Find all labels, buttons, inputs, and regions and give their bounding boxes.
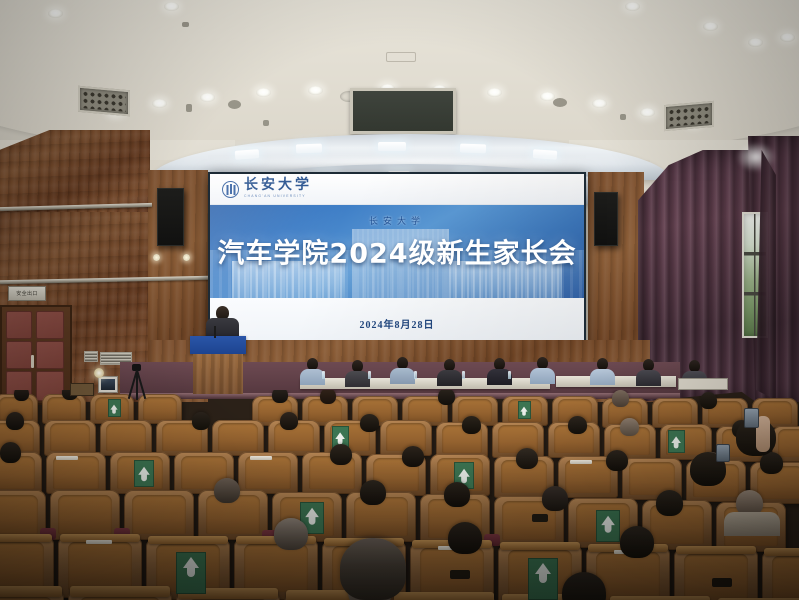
seat-evacuation-arrow-sticker (108, 399, 121, 417)
up-arrow-icon (140, 466, 149, 480)
audience-head (462, 416, 481, 434)
slide-title: 汽车学院2024级新生家长会 (210, 231, 584, 270)
wall-air-vent-left-2 (84, 351, 98, 362)
ceiling-downlight (703, 22, 718, 31)
water-bottle (322, 371, 325, 379)
seat[interactable] (762, 550, 799, 600)
audience-head (6, 412, 24, 430)
ceiling-downlight (592, 99, 607, 108)
control-desk-box (70, 383, 94, 396)
audience-head (192, 412, 210, 430)
ceiling-downlight (640, 108, 655, 117)
audience-head (360, 480, 386, 505)
seat-number-plate (532, 514, 548, 522)
audience-head (360, 414, 379, 432)
seat[interactable] (124, 490, 194, 540)
podium-body (193, 354, 243, 394)
ceiling-sensor (620, 114, 626, 120)
seat-evacuation-arrow-sticker (596, 510, 620, 542)
seat-evacuation-arrow-sticker (668, 430, 685, 453)
ceiling-speaker (228, 100, 241, 109)
seat-number-tag (86, 540, 112, 544)
audience-head (402, 446, 424, 467)
ceiling-downlight (200, 93, 215, 102)
up-arrow-icon (337, 432, 343, 442)
up-arrow-icon (602, 516, 615, 536)
audience-head (516, 448, 538, 469)
audience-head (444, 482, 470, 507)
stage-panelist-torso (590, 369, 615, 385)
ceiling-downlight (748, 38, 763, 47)
university-name-english: CHANG'AN UNIVERSITY (244, 195, 312, 198)
seat[interactable] (50, 490, 120, 540)
seat-top-rail (0, 534, 52, 542)
podium-top-surface (190, 336, 246, 354)
seat-evacuation-arrow-sticker (176, 552, 206, 594)
up-arrow-icon (523, 407, 527, 413)
water-bottle (368, 371, 371, 379)
ceiling-downlight (256, 88, 271, 97)
audience-head (214, 478, 240, 503)
foreground-audience-head (340, 538, 406, 600)
university-emblem-icon (222, 181, 239, 198)
seat-evacuation-arrow-sticker (528, 558, 558, 600)
up-arrow-icon (460, 468, 469, 482)
wall-speaker-right (594, 192, 618, 246)
audience-head (700, 392, 717, 409)
stage-strip-light (378, 142, 406, 151)
safety-exit-sign: 安全出口 (8, 286, 46, 301)
ceiling-downlight (625, 2, 640, 11)
up-arrow-icon (113, 405, 117, 411)
ceiling-projector-mount (386, 52, 416, 62)
seat-top-rail (764, 548, 799, 556)
audience-head (272, 390, 288, 403)
seat[interactable] (674, 548, 758, 600)
audience-head (448, 522, 482, 554)
stage-strip-light (296, 144, 322, 154)
audience-head (330, 444, 352, 465)
up-arrow-icon (306, 508, 319, 528)
seat-row-label (570, 460, 592, 464)
audience-head (612, 390, 629, 407)
seat-evacuation-arrow-sticker (134, 460, 154, 487)
seat-top-rail (70, 586, 170, 597)
ceiling-downlight (164, 2, 179, 11)
seat-number-plate (712, 578, 732, 587)
ceiling-air-grille (78, 86, 130, 117)
smartphone-icon (716, 444, 730, 462)
stage-panelist-torso (437, 370, 462, 386)
door-panel (36, 311, 64, 339)
stage-panelist-torso (345, 371, 370, 387)
door-panel (6, 311, 32, 339)
seat-evacuation-arrow-sticker (518, 401, 531, 419)
seat-top-rail (610, 596, 710, 600)
campus-building-sign: 长安大学 (369, 214, 425, 227)
camera-tripod (124, 364, 148, 398)
up-arrow-icon (534, 563, 553, 594)
audience-head (568, 416, 587, 434)
stage-panelist-torso (636, 370, 661, 386)
stage-panelist-torso (530, 368, 555, 384)
auditorium-photo: 安全出口 长安大学 CHANG'AN UNIVERSITY (0, 0, 799, 600)
presentation-slide: 长安大学 CHANG'AN UNIVERSITY 长安大学 汽车学院2024级新… (210, 174, 584, 348)
audience-head (438, 390, 455, 405)
ceiling-downlight (152, 99, 167, 108)
seat-row-label (250, 456, 272, 460)
door-panel (6, 341, 32, 369)
seat-top-rail (394, 592, 494, 600)
audience-head (542, 486, 568, 511)
microphone-stand (214, 326, 216, 338)
water-bottle (414, 371, 417, 379)
seat[interactable] (212, 420, 264, 456)
up-arrow-icon (673, 436, 679, 446)
wall-spotlight (153, 254, 160, 261)
audience-head (0, 442, 21, 463)
audience-shoulders (724, 512, 780, 536)
door-panel (36, 341, 64, 369)
stage-strip-light (460, 144, 486, 154)
seat[interactable] (100, 420, 152, 456)
stage-panel-table (300, 378, 550, 389)
wall-speaker-left (157, 188, 184, 246)
podium (190, 336, 246, 394)
ceiling-speaker (553, 98, 567, 107)
ceiling-downlight (780, 33, 795, 42)
seat-top-rail (500, 542, 580, 550)
audience-head (14, 390, 29, 401)
university-name: 长安大学 (244, 179, 312, 193)
projection-screen: 长安大学 CHANG'AN UNIVERSITY 长安大学 汽车学院2024级新… (208, 172, 586, 350)
camera-light (94, 368, 104, 378)
slide-header: 长安大学 CHANG'AN UNIVERSITY (210, 174, 584, 205)
ceiling-downlight (308, 86, 323, 95)
slide-hero-band: 长安大学 汽车学院2024级新生家长会 (210, 205, 584, 298)
safety-exit-sign-label: 安全出口 (16, 290, 38, 297)
audience-head (620, 526, 654, 558)
field-monitor (98, 376, 118, 393)
audience-head (620, 418, 639, 436)
ceiling-air-grille (664, 101, 714, 131)
seat-row-label (56, 456, 78, 460)
field-monitor-screen (101, 379, 115, 390)
stage-panelist-torso (390, 368, 415, 384)
seat-top-rail (676, 546, 756, 554)
ceiling-downlight (48, 9, 63, 18)
ceiling-sensor (182, 22, 189, 27)
door-handle[interactable] (31, 355, 34, 368)
wall-spotlight (183, 254, 190, 261)
ceiling-sensor (263, 120, 269, 126)
audience-head (656, 490, 683, 516)
slide-date: 2024年8月28日 (360, 316, 435, 331)
seat-top-rail (0, 586, 62, 597)
seat-top-rail (148, 536, 228, 544)
seat[interactable] (44, 420, 96, 456)
water-bottle (508, 371, 511, 379)
seat-number-plate (450, 570, 470, 579)
up-arrow-icon (182, 557, 201, 588)
water-bottle (462, 371, 465, 379)
audience-head (274, 518, 308, 550)
side-table-right (678, 378, 728, 390)
audience-head (280, 412, 298, 430)
ceiling-sensor (186, 104, 192, 112)
smartphone-icon (744, 408, 759, 428)
audience-head (606, 450, 628, 471)
audience-head (320, 390, 336, 404)
ceiling-downlight (487, 88, 502, 97)
wall-display-panel (350, 88, 456, 134)
